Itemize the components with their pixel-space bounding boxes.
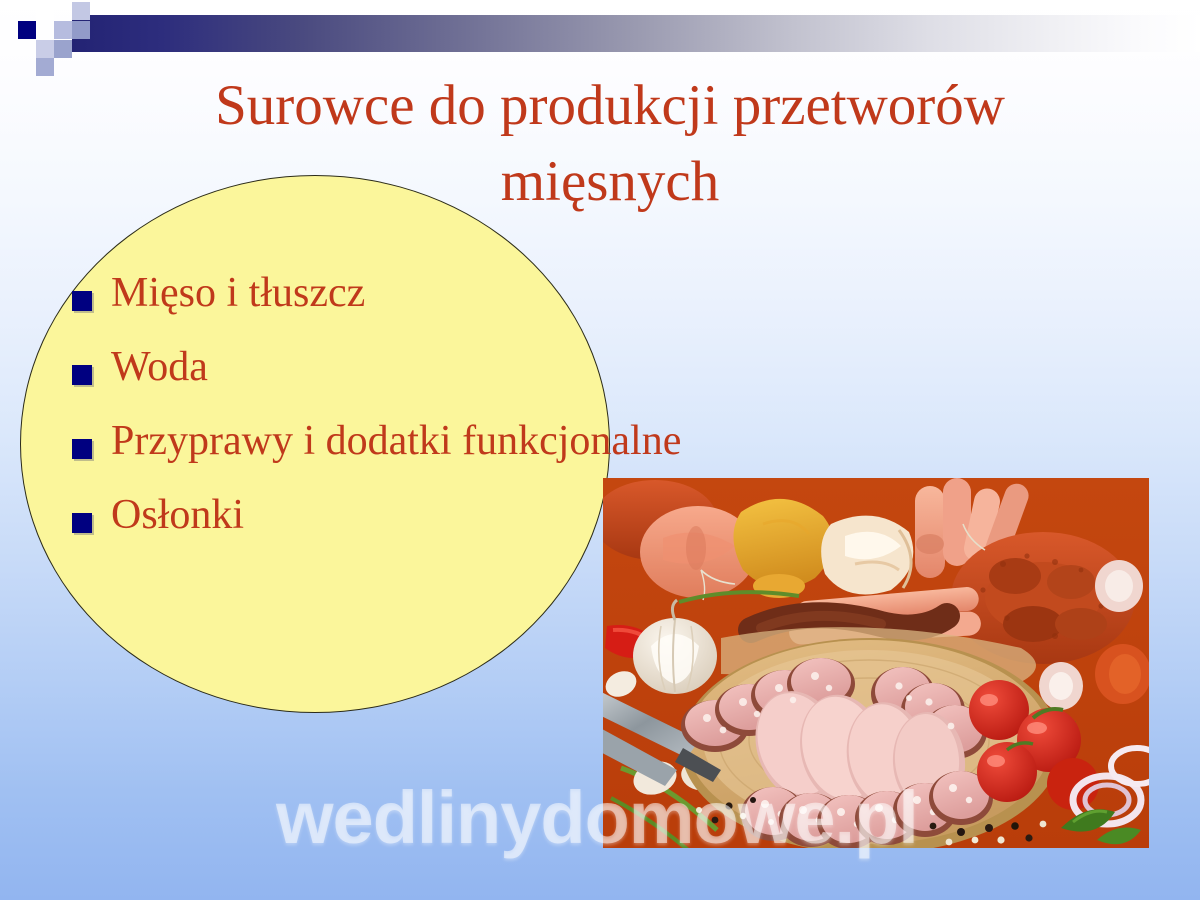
square-lavender-1 [36, 2, 54, 20]
square-lavender-3 [72, 2, 90, 20]
list-item: Mięso i tłuszcz [72, 272, 1072, 346]
header-banner-bar [72, 15, 1200, 52]
square-lavender-7 [36, 58, 54, 76]
square-bullet-icon [72, 513, 92, 533]
list-item-label: Woda [111, 346, 208, 388]
meat-products-photo [603, 478, 1149, 848]
slide-title: Surowce do produkcji przetworów mięsnych [120, 68, 1100, 220]
list-item-label: Osłonki [111, 494, 244, 536]
list-item-label: Mięso i tłuszcz [111, 272, 365, 314]
list-item-label: Przyprawy i dodatki funkcjonalne [111, 420, 681, 462]
slide-canvas: Surowce do produkcji przetworów mięsnych… [0, 0, 1200, 900]
square-lavender-2 [54, 21, 72, 39]
square-dark-navy [18, 21, 36, 39]
square-bullet-icon [72, 439, 92, 459]
square-bullet-icon [72, 291, 92, 311]
square-lavender-6 [54, 40, 72, 58]
square-bullet-icon [72, 365, 92, 385]
square-lavender-5 [36, 40, 54, 58]
list-item: Woda [72, 346, 1072, 420]
square-lavender-4 [72, 21, 90, 39]
